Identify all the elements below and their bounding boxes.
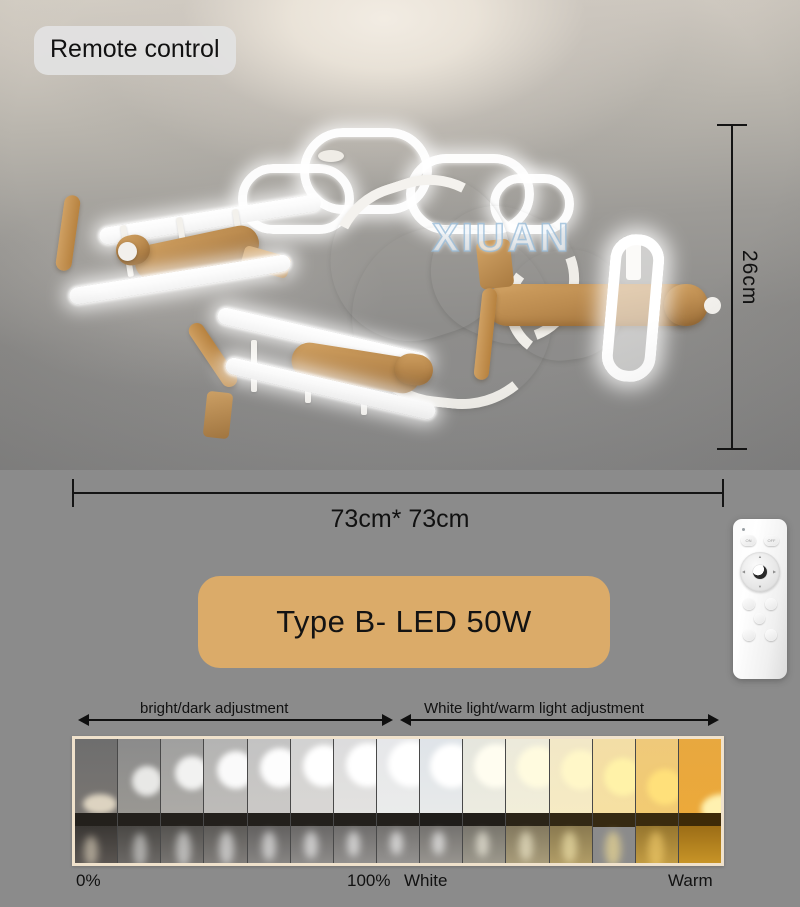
remote-off-button: OFF: [764, 535, 779, 546]
preview-panel: [291, 739, 334, 863]
remote-scene-b-button: [743, 629, 755, 641]
brightness-max-label: 100%: [347, 871, 390, 891]
preview-panel: [593, 739, 636, 863]
preview-panel: [204, 739, 247, 863]
preview-panel: [636, 739, 679, 863]
remote-control-badge: Remote control: [34, 26, 236, 75]
preview-panel: [161, 739, 204, 863]
temperature-arrow-bar: [408, 719, 708, 721]
brightness-arrow-right-head: [382, 714, 393, 726]
remote-on-button: ON: [741, 535, 756, 546]
dpad-center-icon: [753, 565, 767, 579]
remote-dpad: ▲ ▼ ◀ ▶: [740, 552, 780, 592]
width-dimension-cap-right: [722, 479, 724, 507]
dpad-right-icon: ▶: [773, 569, 776, 574]
preview-panel: [377, 739, 420, 863]
remote-control-badge-label: Remote control: [50, 35, 220, 63]
dpad-left-icon: ◀: [742, 569, 745, 574]
brightness-min-label: 0%: [76, 871, 101, 891]
remote-scene-a-button: [754, 613, 765, 624]
brightness-adjustment-label: bright/dark adjustment: [140, 700, 288, 717]
dpad-up-icon: ▲: [758, 554, 762, 559]
remote-control-image: ON OFF ▲ ▼ ◀ ▶: [733, 519, 787, 679]
remote-night-mode-button: [743, 598, 755, 610]
brightness-arrow-bar: [86, 719, 382, 721]
ir-led-icon: [742, 528, 745, 531]
preview-panel: [334, 739, 377, 863]
preview-panel: [463, 739, 506, 863]
preview-panel: [506, 739, 549, 863]
preview-panel: [118, 739, 161, 863]
width-dimension-line: [72, 492, 724, 494]
width-dimension-label: 73cm* 73cm: [0, 505, 800, 534]
height-dimension-cap-bottom: [717, 448, 747, 450]
preview-panel: [550, 739, 593, 863]
product-type-banner: Type B- LED 50W: [198, 576, 610, 668]
product-infographic: XIUAN Remote control 26cm 73cm* 73cm Typ…: [0, 0, 800, 907]
height-dimension-label: 26cm: [737, 250, 761, 305]
temperature-white-label: White: [404, 871, 447, 891]
preview-panel: [420, 739, 463, 863]
preview-panel: [248, 739, 291, 863]
preview-panel: [679, 739, 721, 863]
remote-scene-c-button: [765, 629, 777, 641]
temperature-warm-label: Warm: [668, 871, 713, 891]
temperature-arrow-right-head: [708, 714, 719, 726]
product-type-label: Type B- LED 50W: [276, 604, 532, 640]
height-dimension-line: [731, 124, 733, 450]
remote-full-brightness-button: [765, 598, 777, 610]
color-temperature-adjustment-label: White light/warm light adjustment: [424, 700, 644, 717]
dpad-down-icon: ▼: [758, 584, 762, 589]
adjustment-preview-strip: [72, 736, 724, 866]
preview-panel: [75, 739, 118, 863]
